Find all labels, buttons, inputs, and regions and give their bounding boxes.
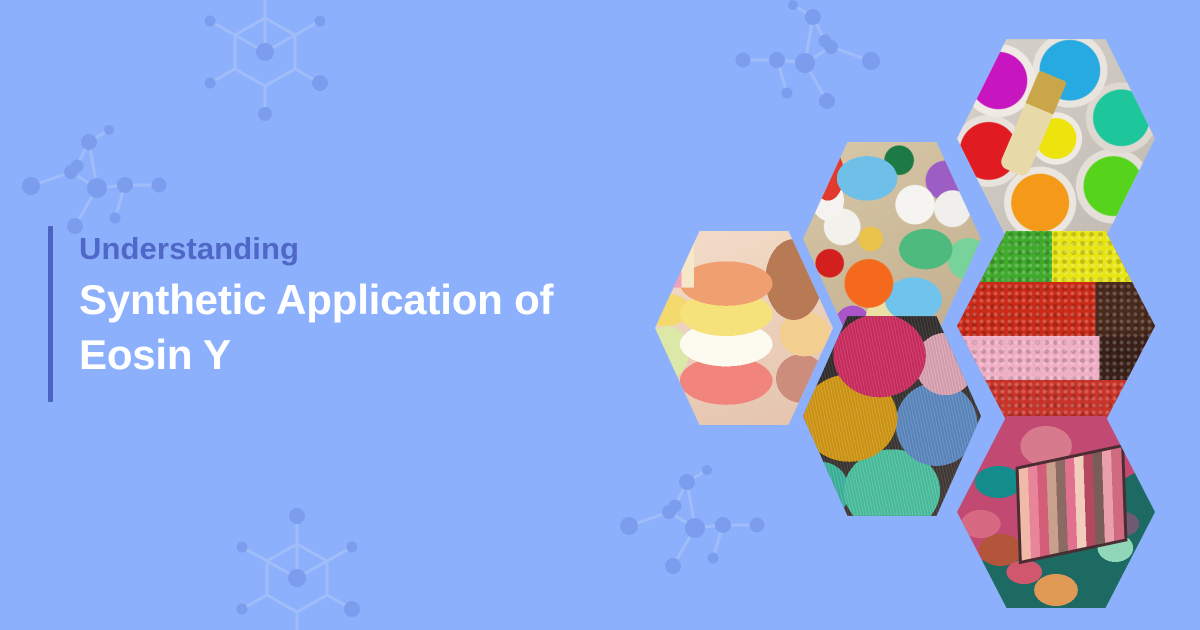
benzene-ring-top-left — [205, 0, 329, 121]
headline-text-group: Understanding Synthetic Application of E… — [53, 226, 609, 402]
cosmetics-palette-photo — [957, 412, 1155, 612]
molecule-cluster-left — [22, 125, 167, 234]
page-title: Synthetic Application of Eosin Y — [79, 272, 609, 383]
yarn-texture — [803, 312, 981, 520]
benzene-ring-bottom-left — [237, 508, 361, 630]
paint-cans-photo — [957, 35, 1155, 242]
hex-tile-plastic-pellets — [957, 227, 1155, 425]
pellet-texture — [957, 227, 1155, 425]
eyeshadow-palette — [1016, 444, 1128, 564]
hexagon-collage — [630, 20, 1190, 610]
macarons-photo — [655, 227, 833, 429]
yarn-balls-photo — [803, 312, 981, 520]
pharmaceutical-pills-photo — [803, 138, 981, 340]
hex-tile-cosmetics — [957, 412, 1155, 612]
headline-block: Understanding Synthetic Application of E… — [48, 226, 648, 402]
hex-tile-macarons — [655, 227, 833, 429]
paint-brush-icon — [999, 71, 1067, 178]
hex-tile-pharmaceuticals — [803, 138, 981, 340]
banner-root: Understanding Synthetic Application of E… — [0, 0, 1200, 630]
eyebrow-text: Understanding — [79, 226, 609, 269]
hex-tile-paint-cans — [957, 35, 1155, 242]
hex-tile-yarn — [803, 312, 981, 520]
plastic-pellets-photo — [957, 227, 1155, 425]
